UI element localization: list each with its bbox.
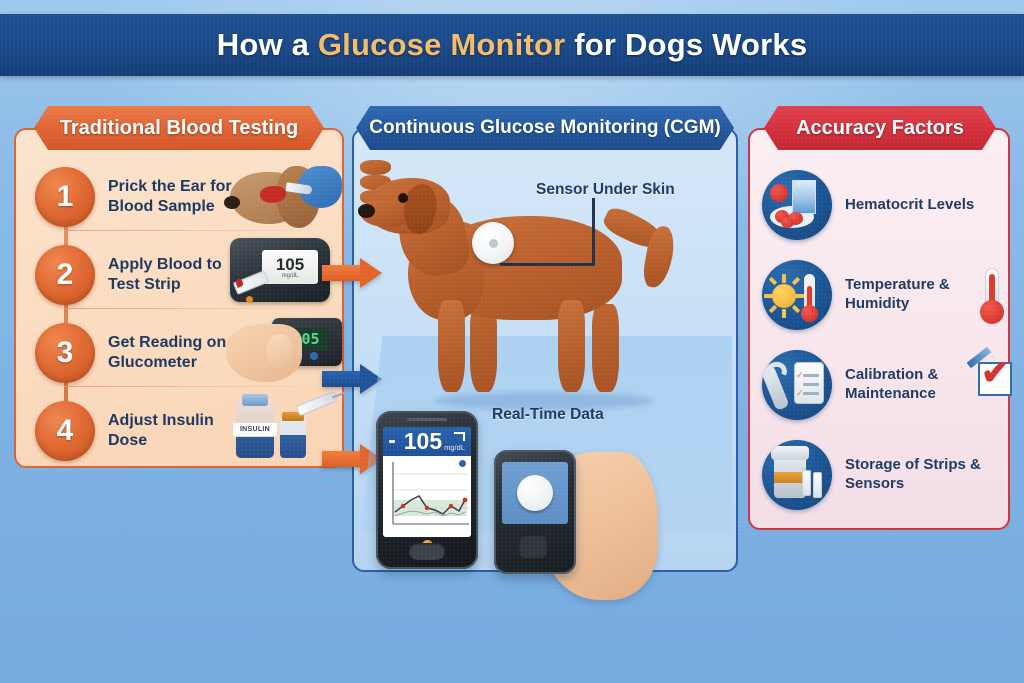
callout-line-horizontal — [500, 263, 595, 266]
step-number-badge: 3 — [35, 323, 95, 383]
glucometer-unit: mg/dL — [282, 273, 299, 279]
sun-shape — [772, 284, 796, 308]
reader-screen — [502, 462, 568, 524]
wrench-clipboard-icon: ✓ ✓ — [762, 350, 832, 420]
factor-item: Storage of Strips & Sensors — [762, 432, 1010, 518]
step-item: 2 Apply Blood to Test Strip 105 mg/dL — [14, 236, 344, 314]
step-label: Apply Blood to Test Strip — [108, 255, 238, 295]
phone-speaker — [407, 418, 447, 421]
arrow-shaft — [322, 265, 362, 281]
clipboard-check: ✓ — [796, 370, 804, 381]
thermometer-bulb — [801, 305, 818, 322]
glucose-trend-chart — [383, 456, 471, 537]
thermometer-icon — [972, 266, 1012, 322]
thermometer-bulb — [980, 300, 1004, 324]
step-item: 3 Get Reading on Glucometer 105 — [14, 314, 344, 392]
sun-ray — [782, 309, 786, 318]
header-continuous-glucose-monitoring: Continuous Glucose Monitoring (CGM) — [356, 106, 734, 150]
reader-button — [519, 534, 547, 558]
dog-leg-front-left — [438, 300, 465, 392]
insulin-vial-label: INSULIN — [232, 422, 278, 437]
clipboard-line — [803, 374, 819, 377]
insulin-label-text: INSULIN — [240, 426, 270, 433]
realtime-callout-label: Real-Time Data — [492, 406, 604, 424]
blood-cells-vial-icon — [762, 170, 832, 240]
phone-signal-icon — [454, 432, 465, 441]
red-blood-cell — [770, 184, 788, 202]
phone-home-button — [409, 543, 445, 560]
sun-ray — [792, 305, 800, 313]
step-item: 4 Adjust Insulin Dose INSULIN — [14, 392, 344, 470]
jar-cap — [771, 446, 809, 460]
sensor-center-dot — [489, 239, 498, 248]
title-accent: Glucose Monitor — [318, 27, 566, 62]
red-blood-cell — [781, 217, 794, 228]
sun-ray — [792, 277, 800, 285]
factor-item: ✓ ✓ Calibration & Maintenance ✔ — [762, 342, 1010, 428]
factor-item: Hematocrit Levels — [762, 162, 1010, 248]
step-number-badge: 4 — [35, 401, 95, 461]
factor-label: Storage of Strips & Sensors — [845, 456, 1010, 494]
cgm-reader-device — [494, 450, 576, 574]
sensor-disc-icon — [517, 475, 553, 511]
dog-ear-lancet-icon — [224, 160, 340, 230]
factor-item: Temperature & Humidity — [762, 252, 1010, 338]
sun-thermometer-icon — [762, 260, 832, 330]
handheld-meter-button — [310, 352, 318, 360]
test-vial-shape — [792, 180, 816, 214]
step-number-badge: 2 — [35, 245, 95, 305]
phone-glucose-unit: mg/dL — [444, 443, 465, 452]
glucometer-screen: 105 mg/dL — [262, 250, 318, 284]
phone-screen: 105 mg/dL — [383, 427, 471, 537]
check-mark: ✔ — [981, 356, 1010, 390]
dog-paw-front-right — [360, 160, 391, 175]
phone-glucose-reading: 105 — [404, 430, 442, 453]
sun-ray — [769, 277, 777, 285]
sun-ray — [764, 294, 773, 298]
title-bar: How a Glucose Monitor for Dogs Works — [0, 14, 1024, 76]
checkbox-pencil-icon: ✔ — [972, 354, 1012, 410]
trend-arrow-icon — [389, 440, 395, 443]
sensor-callout-label: Sensor Under Skin — [536, 181, 675, 199]
smartphone-illustration: 105 mg/dL — [376, 411, 478, 569]
arrow-shaft — [322, 451, 362, 467]
dog-leg-back-left — [558, 300, 585, 392]
step-item: 1 Prick the Ear for Blood Sample — [14, 158, 344, 236]
infographic-canvas: How a Glucose Monitor for Dogs Works Tra… — [0, 0, 1024, 683]
callout-line-vertical — [592, 198, 595, 266]
step-label: Adjust Insulin Dose — [108, 411, 238, 451]
glucometer-body: 105 mg/dL — [230, 238, 330, 302]
factor-label: Hematocrit Levels — [845, 196, 974, 215]
cgm-sensor-disc — [472, 222, 514, 264]
jar-strips-icon — [762, 440, 832, 510]
dog-nose — [358, 204, 375, 218]
step-number-badge: 1 — [35, 167, 95, 227]
glucometer-reading: 105 — [276, 256, 304, 273]
title-part-2: for Dogs Works — [565, 27, 807, 62]
phone-status-bar: 105 mg/dL — [383, 427, 471, 456]
header-traditional-blood-testing: Traditional Blood Testing — [34, 106, 324, 150]
dog-eye — [398, 193, 408, 203]
second-vial-shape — [280, 418, 306, 458]
steps-list: 1 Prick the Ear for Blood Sample 2 Apply… — [14, 150, 344, 468]
title-part-1: How a — [217, 27, 318, 62]
dog-leg-back-right — [592, 304, 619, 392]
header-accuracy-factors: Accuracy Factors — [764, 106, 996, 150]
sun-ray — [795, 294, 804, 298]
chart-svg — [383, 456, 471, 537]
sun-ray — [782, 274, 786, 283]
clipboard-line — [803, 392, 819, 395]
clipboard-check: ✓ — [796, 388, 804, 399]
accuracy-factors-list: Hematocrit Levels Temperature & Humidity — [748, 152, 1010, 530]
test-strip — [802, 470, 811, 496]
page-title: How a Glucose Monitor for Dogs Works — [217, 27, 808, 63]
chart-info-icon — [459, 460, 466, 467]
step-label: Get Reading on Glucometer — [108, 333, 238, 373]
test-strip — [813, 472, 822, 498]
step-label: Prick the Ear for Blood Sample — [108, 177, 238, 217]
thumb-shape — [266, 334, 292, 368]
sun-ray — [769, 305, 777, 313]
arrow-shaft — [322, 371, 362, 387]
clipboard-line — [803, 383, 819, 386]
glucometer-button — [246, 296, 253, 303]
insulin-vial-cap — [242, 394, 268, 406]
syringe-shape — [295, 391, 338, 417]
